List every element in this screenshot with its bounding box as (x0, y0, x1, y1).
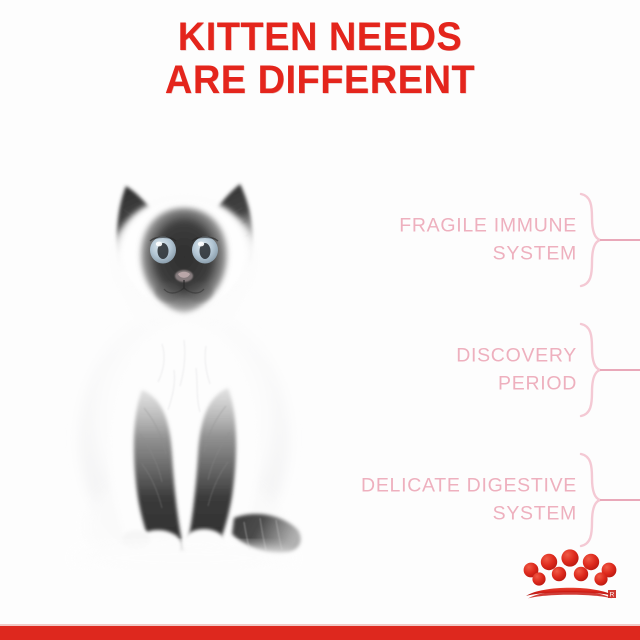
curly-brace-icon (578, 322, 602, 418)
curly-brace-icon (578, 452, 602, 548)
footer-bar (0, 626, 640, 640)
royal-canin-crown-logo: R (518, 546, 622, 604)
leader-line (600, 499, 640, 501)
leader-line (600, 239, 640, 241)
feature-row-fragile-immune-system[interactable]: FRAGILE IMMUNE SYSTEM (352, 186, 640, 294)
feature-row-discovery-period[interactable]: DISCOVERY PERIOD (352, 316, 640, 424)
feature-label: FRAGILE IMMUNE SYSTEM (352, 212, 577, 267)
title-line-1: KITTEN NEEDS (16, 18, 624, 57)
leader-line (600, 369, 640, 371)
kitten-photo (58, 158, 310, 570)
page-title: KITTEN NEEDS ARE DIFFERENT (0, 18, 640, 100)
title-line-2: ARE DIFFERENT (16, 61, 624, 100)
svg-text:R: R (610, 592, 615, 599)
feature-label: DELICATE DIGESTIVE SYSTEM (352, 472, 577, 527)
poster-canvas: KITTEN NEEDS ARE DIFFERENT (0, 0, 640, 640)
registered-trademark-icon: R (608, 590, 616, 599)
feature-row-delicate-digestive-system[interactable]: DELICATE DIGESTIVE SYSTEM (352, 446, 640, 554)
curly-brace-icon (578, 192, 602, 288)
feature-label: DISCOVERY PERIOD (352, 342, 577, 397)
